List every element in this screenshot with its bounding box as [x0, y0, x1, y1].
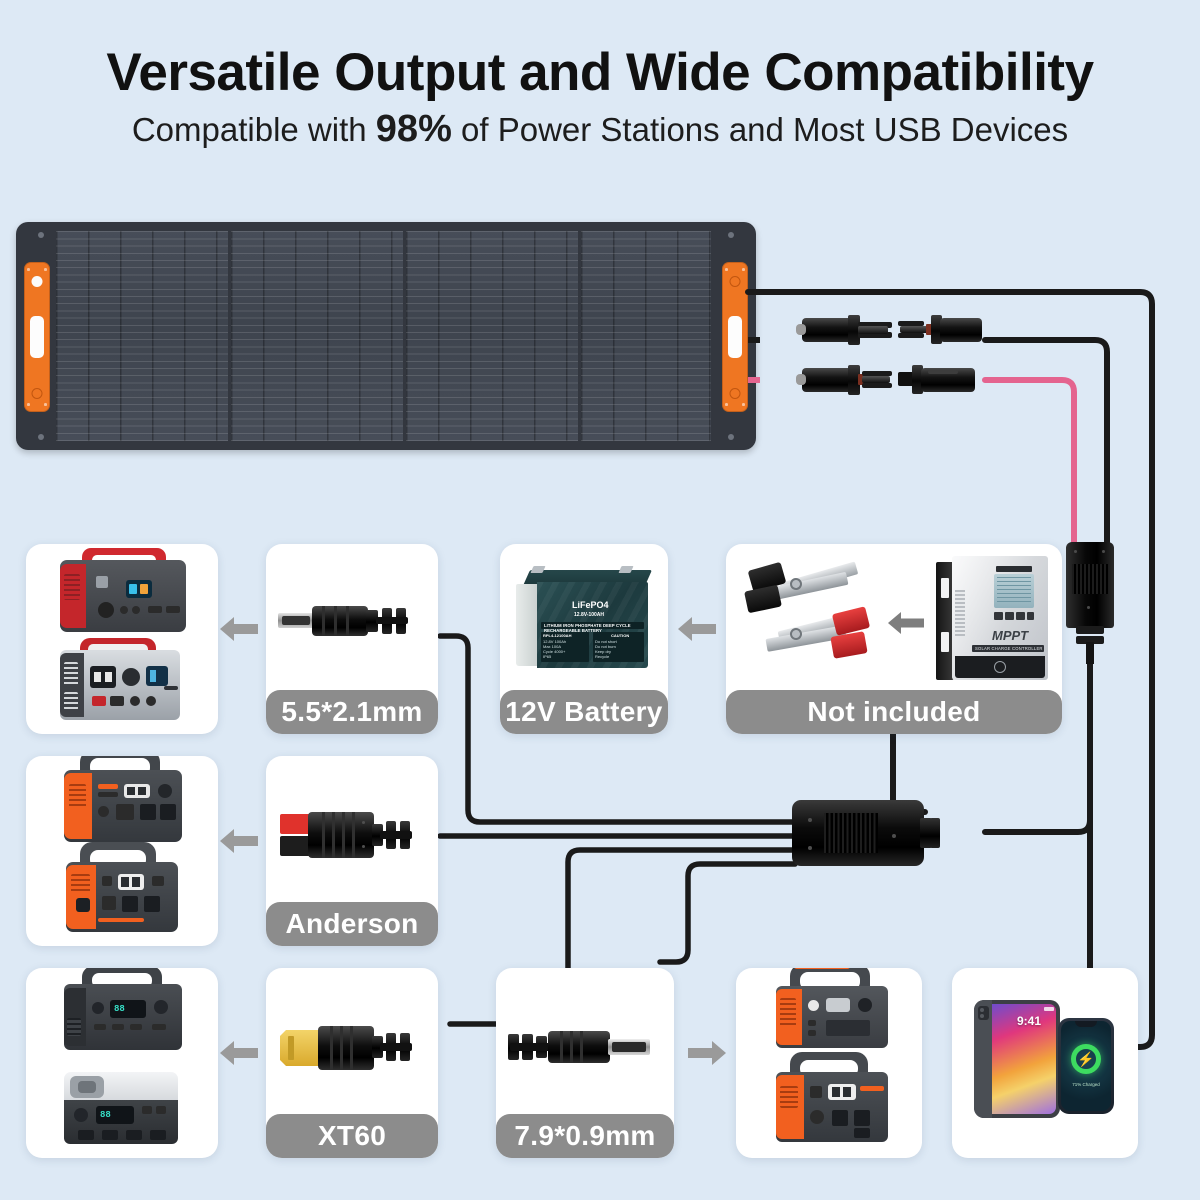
connector-label-5521: 5.5*2.1mm — [266, 690, 438, 734]
battery-model-text: RPL4-12100AH — [543, 633, 571, 638]
connector-card-not-included[interactable]: MPPT SOLAR CHARGE CONTROLLER Not include… — [726, 544, 1062, 734]
page-title: Versatile Output and Wide Compatibility — [0, 42, 1200, 103]
alligator-clamps-icon — [750, 566, 880, 676]
arrow-left-anderson — [218, 825, 260, 857]
panel-fold-3 — [406, 231, 578, 441]
device-card-power-stations-orange[interactable] — [26, 756, 218, 946]
portable-power-station-silver-red — [60, 650, 180, 720]
portable-power-station-orange-bottom — [66, 862, 178, 932]
mppt-brand-text: MPPT — [992, 628, 1028, 643]
mppt-controller-icon: MPPT SOLAR CHARGE CONTROLLER — [936, 556, 1048, 684]
panel-fold-1 — [56, 231, 228, 441]
mppt-subtitle-text: SOLAR CHARGE CONTROLLER — [975, 646, 1043, 651]
battery-caution-text: CAUTION — [611, 633, 629, 638]
cable-mc4-red-to-connector — [985, 380, 1074, 545]
foldable-solar-panel — [16, 222, 756, 450]
mc4-female-red — [898, 362, 986, 396]
infographic-root: Versatile Output and Wide Compatibility … — [0, 0, 1200, 1200]
arrow-left-xt60 — [218, 1037, 260, 1069]
cable-mc4-black-to-connector — [985, 340, 1107, 545]
dc-barrel-plug-icon — [278, 600, 426, 642]
panel-handle-right — [722, 262, 748, 412]
portable-power-station-orange-a — [776, 986, 888, 1048]
mc4-male-red — [796, 362, 894, 396]
dc-barrel-plug-7909-icon — [508, 1026, 662, 1068]
arrow-left-not-included — [676, 613, 718, 645]
lifepo4-battery-icon: LiFePO4 12.8V-100AH LITHIUM IRON PHOSPHA… — [516, 570, 654, 670]
panel-fold-4 — [581, 231, 711, 441]
tablet-icon: 9:41 — [974, 1000, 1060, 1118]
battery-spec-text: 12.8V-100AH — [574, 612, 604, 618]
cable-splitter-hub — [792, 800, 952, 866]
connector-label-12v-battery: 12V Battery — [500, 690, 668, 734]
connector-card-anderson[interactable]: Anderson — [266, 756, 438, 946]
subtitle-suffix: of Power Stations and Most USB Devices — [452, 111, 1068, 148]
portable-power-station-orange-b — [776, 1072, 888, 1142]
device-card-power-stations-gray[interactable]: 88 88 — [26, 968, 218, 1158]
mc4-female-black — [898, 312, 986, 346]
device-card-tablet-phone[interactable]: 9:41 ⚡ 71% Charged — [952, 968, 1138, 1158]
portable-power-station-dark-gray: 88 — [64, 984, 182, 1050]
connector-label-xt60: XT60 — [266, 1114, 438, 1158]
inline-barrel-connector — [1062, 542, 1118, 664]
connector-label-anderson: Anderson — [266, 902, 438, 946]
battery-brand-text: LiFePO4 — [572, 600, 609, 610]
cable-hub-to-7909 — [660, 864, 795, 962]
device-card-power-stations-orange-2[interactable] — [736, 968, 922, 1158]
tablet-clock: 9:41 — [1004, 1014, 1054, 1028]
portable-power-station-red-black — [60, 560, 186, 632]
phone-charge-status: 71% Charged — [1061, 1082, 1111, 1087]
portable-power-station-white-gray: 88 — [64, 1072, 178, 1144]
panel-handle-left — [24, 262, 50, 412]
panel-fold-2 — [231, 231, 403, 441]
smartphone-icon: ⚡ 71% Charged — [1058, 1018, 1114, 1114]
connector-card-xt60[interactable]: XT60 — [266, 968, 438, 1158]
page-subtitle: Compatible with 98% of Power Stations an… — [0, 108, 1200, 151]
connector-card-7909[interactable]: 7.9*0.9mm — [496, 968, 674, 1158]
connector-label-not-included: Not included — [726, 690, 1062, 734]
compatibility-percentage: 98% — [376, 108, 452, 150]
arrow-left-inside-not-included — [886, 608, 926, 638]
device-card-power-stations-red[interactable] — [26, 544, 218, 734]
connector-card-12v-battery[interactable]: LiFePO4 12.8V-100AH LITHIUM IRON PHOSPHA… — [500, 544, 668, 734]
arrow-left-5521 — [218, 613, 260, 645]
arrow-right-7909 — [686, 1037, 728, 1069]
connector-card-5521[interactable]: 5.5*2.1mm — [266, 544, 438, 734]
subtitle-prefix: Compatible with — [132, 111, 376, 148]
anderson-powerpole-icon — [280, 812, 426, 860]
connector-label-7909: 7.9*0.9mm — [496, 1114, 674, 1158]
mc4-male-black — [796, 312, 894, 346]
xt60-connector-icon — [280, 1024, 428, 1070]
portable-power-station-orange-top — [64, 770, 182, 842]
